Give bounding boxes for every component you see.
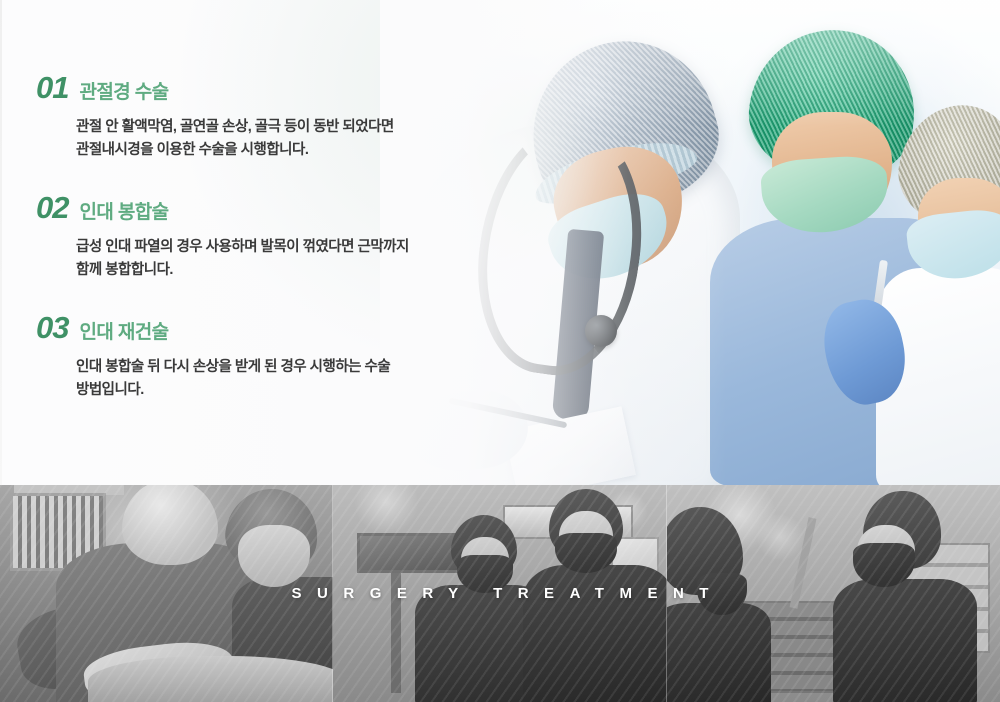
treatment-item-2-header: 02 인대 봉합술 xyxy=(36,192,409,223)
staff-right-body-shape xyxy=(833,579,977,702)
treatment-item-3-description: 인대 봉합술 뒤 다시 손상을 받게 된 경우 시행하는 수술 방법입니다. xyxy=(76,356,390,403)
treatment-item-2-description: 급성 인대 파열의 경우 사용하며 발목이 꺾였다면 근막까지 함께 봉합합니다… xyxy=(76,236,409,283)
treatment-item-1-title: 관절경 수술 xyxy=(79,83,168,102)
equipment-stand-shape xyxy=(391,573,401,693)
treatment-item-1: 01 관절경 수술 관절 안 활액막염, 골연골 손상, 골극 등이 동반 되었… xyxy=(36,72,394,163)
treatment-item-3-number: 03 xyxy=(36,312,68,343)
hero-section: 01 관절경 수술 관절 안 활액막염, 골연골 손상, 골극 등이 동반 되었… xyxy=(0,0,1000,485)
photo-strip xyxy=(0,485,1000,702)
surgery-treatment-page: 01 관절경 수술 관절 안 활액막염, 골연골 손상, 골극 등이 동반 되었… xyxy=(0,0,1000,702)
treatment-list: 01 관절경 수술 관절 안 활액막염, 골연골 손상, 골극 등이 동반 되었… xyxy=(0,0,520,485)
treatment-item-2-title: 인대 봉합술 xyxy=(79,203,168,222)
treatment-item-3-header: 03 인대 재건술 xyxy=(36,312,390,343)
treatment-item-1-description: 관절 안 활액막염, 골연골 손상, 골극 등이 동반 되었다면 관절내시경을 … xyxy=(76,116,394,163)
surgeon-a-cap-shape xyxy=(122,485,218,565)
photo-panel-2 xyxy=(333,485,666,702)
staff-b-body-shape xyxy=(523,565,666,702)
treatment-item-3: 03 인대 재건술 인대 봉합술 뒤 다시 손상을 받게 된 경우 시행하는 수… xyxy=(36,312,390,403)
treatment-item-2-number: 02 xyxy=(36,192,68,223)
treatment-item-1-header: 01 관절경 수술 xyxy=(36,72,394,103)
staff-left-body-shape xyxy=(667,603,771,702)
treatment-item-3-title: 인대 재건술 xyxy=(79,323,168,342)
treatment-item-2: 02 인대 봉합술 급성 인대 파열의 경우 사용하며 발목이 꺾였다면 근막까… xyxy=(36,192,409,283)
photo-panel-1 xyxy=(0,485,333,702)
photo-panel-3 xyxy=(667,485,1000,702)
surgical-drape-shape xyxy=(88,656,333,702)
treatment-item-1-number: 01 xyxy=(36,72,68,103)
